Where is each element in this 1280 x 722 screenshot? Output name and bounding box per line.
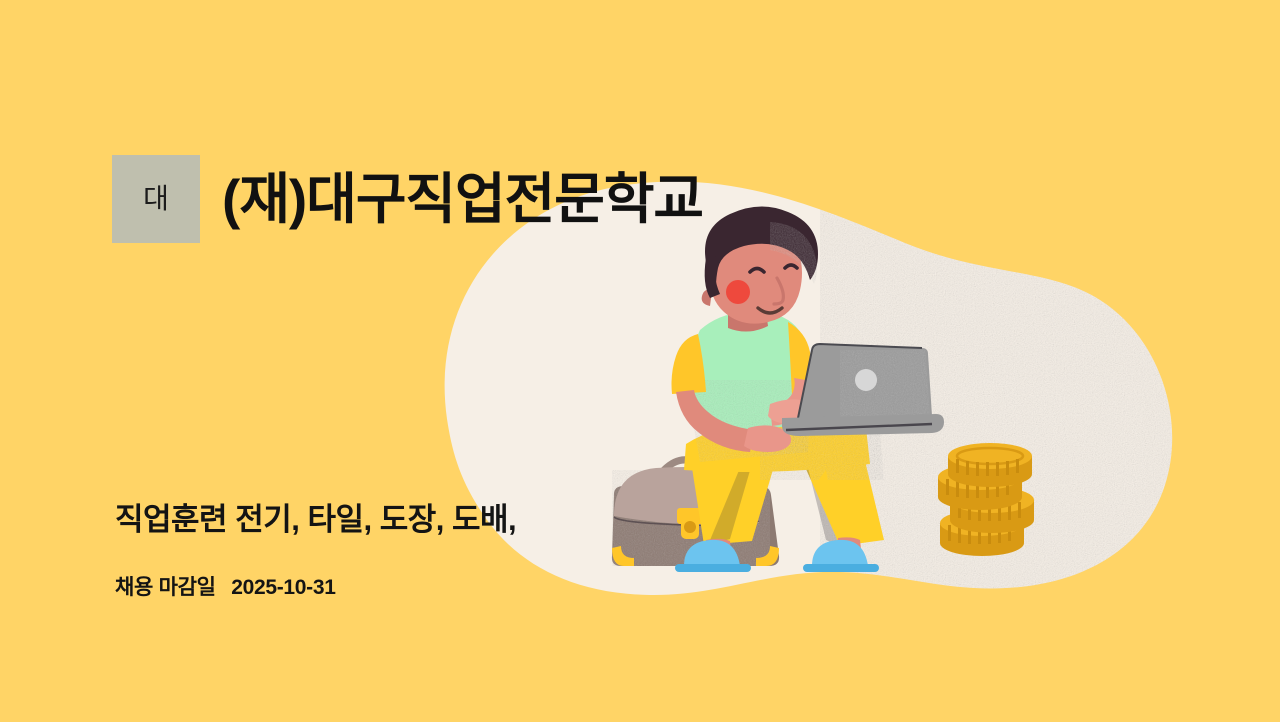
blush-cheek	[726, 280, 750, 304]
company-name: (재)대구직업전문학교	[222, 172, 703, 227]
deadline-date: 2025-10-31	[231, 576, 335, 599]
company-initial-letter: 대	[143, 185, 169, 213]
job-posting-card: 대 (재)대구직업전문학교 직업훈련 전기, 타일, 도장, 도배, 채용 마감…	[0, 0, 1280, 722]
job-title: 직업훈련 전기, 타일, 도장, 도배,	[115, 501, 615, 540]
company-initial-badge: 대	[112, 155, 200, 243]
illustration	[0, 0, 1280, 722]
card-header: 대 (재)대구직업전문학교	[112, 135, 703, 264]
deadline-label: 채용 마감일	[115, 576, 216, 599]
deadline-row: 채용 마감일 2025-10-31	[115, 575, 336, 600]
coin-stack-icon	[938, 443, 1034, 556]
